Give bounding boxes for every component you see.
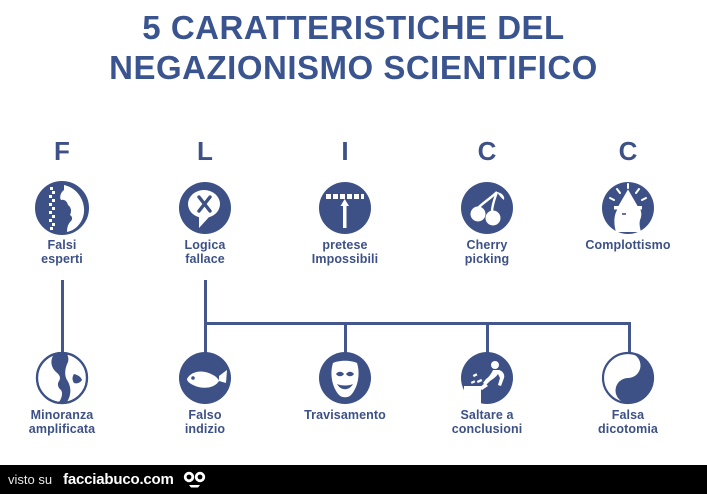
footer-bar: visto su facciabuco.com: [0, 465, 707, 494]
node-label-line2: dicotomia: [558, 423, 698, 437]
flicc-letter-c1: C: [457, 138, 517, 164]
node-falso-indizio[interactable]: Falso indizio: [135, 350, 275, 436]
jumping-figure-icon: [459, 350, 515, 406]
node-logica-fallace[interactable]: Logica fallace: [135, 180, 275, 266]
connector-logica-stem: [204, 280, 207, 325]
node-falsi-esperti[interactable]: Falsi esperti: [0, 180, 132, 266]
connector-horizontal-bus: [204, 322, 631, 325]
two-faces-icon: [34, 350, 90, 406]
face-profile-icon: [34, 180, 90, 236]
footer-brand-link[interactable]: facciabuco.com: [63, 471, 174, 488]
theater-mask-icon: [317, 350, 373, 406]
node-label-line2: indizio: [135, 423, 275, 437]
tinfoil-hat-head-icon: [600, 180, 656, 236]
page-title: 5 CARATTERISTICHE DEL NEGAZIONISMO SCIEN…: [0, 8, 707, 88]
node-pretese-impossibili[interactable]: pretese Impossibili: [275, 180, 415, 266]
node-label-line1: Saltare a: [417, 409, 557, 423]
cherries-icon: [459, 180, 515, 236]
node-minoranza-amplificata[interactable]: Minoranza amplificata: [0, 350, 132, 436]
node-label-line2: amplificata: [0, 423, 132, 437]
footer-visto-su-label: visto su: [8, 472, 52, 487]
speech-bubble-x-icon: [177, 180, 233, 236]
node-falsa-dicotomia[interactable]: Falsa dicotomia: [558, 350, 698, 436]
node-saltare-a-conclusioni[interactable]: Saltare a conclusioni: [417, 350, 557, 436]
node-complottismo[interactable]: Complottismo: [558, 180, 698, 253]
node-cherry-picking[interactable]: Cherry picking: [417, 180, 557, 266]
red-herring-fish-icon: [177, 350, 233, 406]
flicc-letter-l: L: [175, 138, 235, 164]
node-label-line1: Minoranza: [0, 409, 132, 423]
connector-falsi-to-minoranza: [61, 280, 64, 355]
node-label-line1: Falso: [135, 409, 275, 423]
node-label-line2: picking: [417, 253, 557, 267]
yin-yang-icon: [600, 350, 656, 406]
node-label-line2: conclusioni: [417, 423, 557, 437]
flicc-letter-i: I: [315, 138, 375, 164]
node-label-line1: Complottismo: [558, 239, 698, 253]
node-label-line2: Impossibili: [275, 253, 415, 267]
node-label-line2: fallace: [135, 253, 275, 267]
node-travisamento[interactable]: Travisamento: [275, 350, 415, 423]
node-label-line1: Falsa: [558, 409, 698, 423]
title-line-1: 5 CARATTERISTICHE DEL: [0, 8, 707, 48]
infographic-canvas: 5 CARATTERISTICHE DEL NEGAZIONISMO SCIEN…: [0, 0, 707, 494]
node-label-line1: Falsi: [0, 239, 132, 253]
node-label-line1: pretese: [275, 239, 415, 253]
node-label-line1: Travisamento: [275, 409, 415, 423]
node-label-line1: Cherry: [417, 239, 557, 253]
flicc-letter-c2: C: [598, 138, 658, 164]
eyes-face-logo: [181, 471, 207, 489]
node-label-line1: Logica: [135, 239, 275, 253]
node-label-line2: esperti: [0, 253, 132, 267]
flicc-letter-f: F: [32, 138, 92, 164]
title-line-2: NEGAZIONISMO SCIENTIFICO: [0, 48, 707, 88]
impossible-bar-icon: [317, 180, 373, 236]
